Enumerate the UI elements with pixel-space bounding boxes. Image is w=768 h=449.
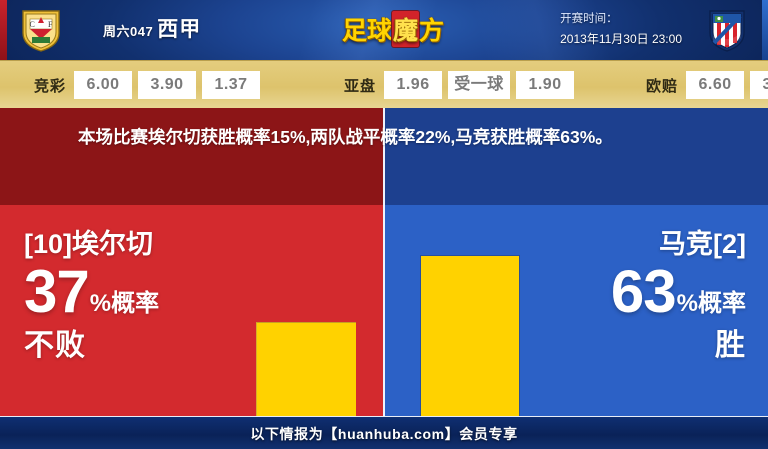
- away-probability-suffix: %概率: [677, 292, 746, 321]
- odds-group-asian: 亚盘 1.96 受一球 1.90: [344, 71, 574, 99]
- brand-prefix: 足球: [342, 17, 392, 45]
- match-title: 周六047西甲: [103, 13, 201, 43]
- odds-group-title: 欧赔: [646, 75, 678, 96]
- panel-divider: [383, 108, 385, 416]
- kickoff-time: 开赛时间： 2013年11月30日 23:00: [560, 9, 682, 49]
- away-probability-row: 63 %概率: [611, 263, 746, 321]
- odds-group-title: 亚盘: [344, 75, 376, 96]
- away-probability-value: 63: [611, 263, 676, 321]
- footer-suffix: 】会员专享: [445, 426, 518, 442]
- odds-cell-home[interactable]: 6.60: [686, 71, 744, 99]
- header-edge-red: [0, 0, 7, 60]
- footer-domain[interactable]: huanhuba.com: [338, 426, 445, 442]
- odds-cell-away[interactable]: 1.90: [516, 71, 574, 99]
- kickoff-value: 2013年11月30日 23:00: [560, 29, 682, 49]
- brand-logo[interactable]: 足球魔方: [333, 10, 453, 48]
- away-probability-bar: [420, 255, 520, 416]
- svg-text:F: F: [48, 20, 53, 29]
- brand-badge: 魔: [392, 11, 419, 47]
- kickoff-label: 开赛时间：: [560, 9, 682, 29]
- odds-cell-handicap[interactable]: 受一球: [448, 71, 510, 99]
- odds-group-title: 竞彩: [34, 75, 66, 96]
- home-probability-value: 37: [24, 263, 89, 321]
- odds-cell-home[interactable]: 1.96: [384, 71, 442, 99]
- away-team-crest-icon: [704, 7, 750, 53]
- odds-bar: 竞彩 6.00 3.90 1.37 亚盘 1.96 受一球 1.90 欧赔 6.…: [0, 60, 768, 110]
- brand-suffix: 方: [419, 17, 444, 45]
- page-root: C F 周六047西甲 足球魔方 开赛时间： 2013年11月: [0, 0, 768, 449]
- odds-cell-home[interactable]: 6.00: [74, 71, 132, 99]
- home-probability-bar: [256, 322, 356, 416]
- home-result-label: 不败: [24, 327, 159, 365]
- odds-cell-away[interactable]: 1.37: [202, 71, 260, 99]
- footer-bar: 以下情报为【huanhuba.com】会员专享: [0, 416, 768, 449]
- footer-prefix: 以下情报为【: [250, 426, 338, 442]
- odds-cell-draw[interactable]: 3.90: [750, 71, 768, 99]
- home-probability-row: 37 %概率: [24, 263, 159, 321]
- away-team-name: 马竞[2]: [611, 227, 746, 261]
- header-edge-blue: [762, 0, 768, 60]
- home-team-crest-icon: C F: [18, 7, 64, 53]
- brand-logo-text: 足球魔方: [342, 11, 444, 47]
- away-panel: 马竞[2] 63 %概率 胜: [384, 108, 768, 416]
- away-team-block: 马竞[2] 63 %概率 胜: [611, 227, 746, 365]
- odds-group-jingcai: 竞彩 6.00 3.90 1.37: [34, 71, 260, 99]
- home-panel: [10]埃尔切 37 %概率 不败: [0, 108, 384, 416]
- home-team-name: [10]埃尔切: [24, 227, 159, 261]
- home-team-block: [10]埃尔切 37 %概率 不败: [24, 227, 159, 365]
- odds-cell-draw[interactable]: 3.90: [138, 71, 196, 99]
- home-probability-suffix: %概率: [90, 292, 159, 321]
- svg-text:C: C: [30, 20, 35, 29]
- footer-notice: 以下情报为【huanhuba.com】会员专享: [250, 424, 517, 444]
- odds-group-european: 欧赔 6.60 3.90 1.51: [646, 71, 768, 99]
- header-bar: C F 周六047西甲 足球魔方 开赛时间： 2013年11月: [0, 0, 768, 60]
- away-result-label: 胜: [611, 327, 746, 365]
- match-league-label: 西甲: [157, 18, 201, 41]
- probability-chart: [10]埃尔切 37 %概率 不败 马竞[2] 63 %概率 胜: [0, 108, 768, 416]
- summary-text: 本场比赛埃尔切获胜概率15%,两队战平概率22%,马竞获胜概率63%。: [78, 122, 690, 153]
- match-round-label: 周六047: [103, 24, 153, 39]
